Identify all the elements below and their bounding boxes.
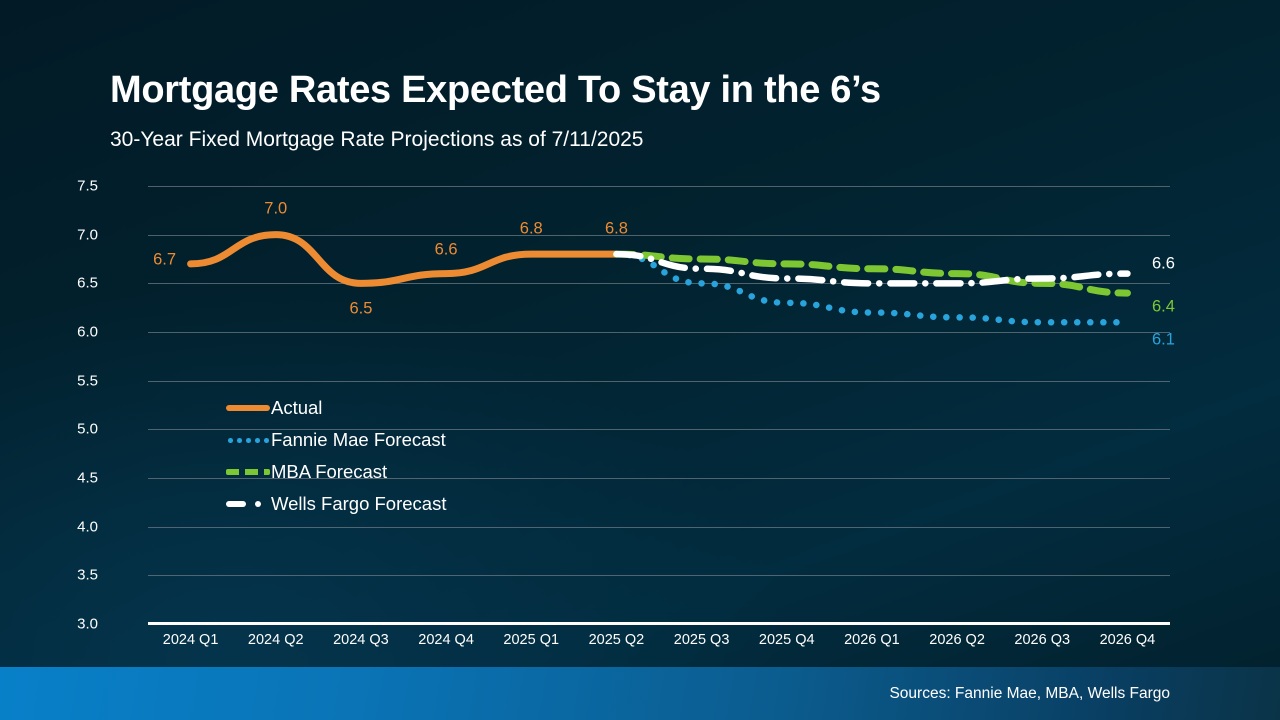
data-point-label: 6.5 [349, 300, 372, 319]
chart-series-lines [0, 0, 1280, 720]
legend-item-actual[interactable]: Actual [226, 392, 446, 424]
data-point-label: 6.7 [153, 250, 176, 269]
series-line-actual [191, 235, 617, 284]
data-point-label: 6.4 [1152, 298, 1175, 317]
data-point-label: 6.8 [605, 220, 628, 239]
series-line-fannie-mae-forecast [616, 254, 1127, 322]
data-point-label: 7.0 [264, 199, 287, 218]
sources-text: Sources: Fannie Mae, MBA, Wells Fargo [889, 685, 1170, 703]
chart-legend: ActualFannie Mae ForecastMBA ForecastWel… [226, 392, 446, 520]
legend-item-fannie-mae-forecast[interactable]: Fannie Mae Forecast [226, 424, 446, 456]
legend-swatch-icon [226, 465, 270, 479]
legend-line-solid [226, 405, 270, 411]
series-line-mba-forecast [616, 254, 1127, 293]
data-point-label: 6.6 [1152, 254, 1175, 273]
legend-item-wells-fargo-forecast[interactable]: Wells Fargo Forecast [226, 488, 446, 520]
footer-bar: Sources: Fannie Mae, MBA, Wells Fargo [0, 667, 1280, 720]
data-point-label: 6.8 [520, 220, 543, 239]
legend-swatch-icon [226, 433, 270, 447]
legend-line-dashed [226, 469, 270, 475]
data-point-label: 6.6 [435, 240, 458, 259]
legend-label: MBA Forecast [271, 461, 387, 483]
legend-item-mba-forecast[interactable]: MBA Forecast [226, 456, 446, 488]
legend-line-dashdot [226, 501, 270, 507]
legend-label: Wells Fargo Forecast [271, 493, 446, 515]
legend-label: Fannie Mae Forecast [271, 429, 446, 451]
legend-line-dotted [226, 438, 270, 443]
slide-root: Mortgage Rates Expected To Stay in the 6… [0, 0, 1280, 720]
legend-swatch-icon [226, 497, 270, 511]
data-point-label: 6.1 [1152, 331, 1175, 350]
legend-swatch-icon [226, 401, 270, 415]
legend-label: Actual [271, 397, 322, 419]
